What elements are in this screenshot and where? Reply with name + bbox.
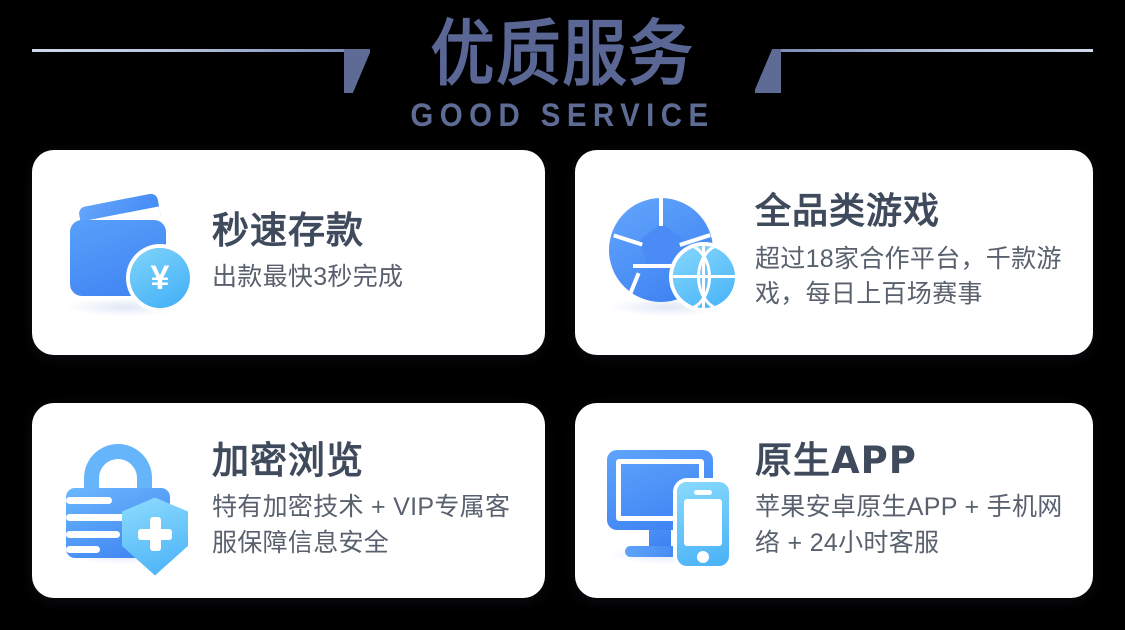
feature-card-deposit[interactable]: ¥ 秒速存款 出款最快3秒完成: [32, 150, 545, 355]
card-title: 加密浏览: [212, 440, 531, 481]
plus-icon: [138, 517, 172, 551]
basketball-icon: [673, 246, 735, 308]
phone-screen: [684, 499, 722, 546]
phone-icon: [677, 482, 729, 566]
card-text: 秒速存款 出款最快3秒完成: [212, 210, 531, 296]
card-text: 原生APP 苹果安卓原生APP + 手机网络 + 24小时客服: [755, 440, 1079, 561]
phone-home-button: [697, 551, 709, 563]
card-text: 加密浏览 特有加密技术 + VIP专属客服保障信息安全: [212, 440, 531, 561]
page-title: 优质服务: [0, 10, 1125, 102]
card-title: 原生APP: [755, 440, 1079, 481]
monitor-stand: [649, 530, 671, 548]
ball-seam: [613, 233, 643, 246]
lock-shield-icon: [58, 436, 198, 566]
lock-slot: [66, 497, 112, 504]
card-title: 全品类游戏: [755, 192, 1079, 232]
monitor-phone-icon: [601, 436, 741, 566]
lock-slot: [66, 546, 100, 553]
soccer-basketball-icon: [601, 188, 741, 318]
feature-card-grid: ¥ 秒速存款 出款最快3秒完成: [32, 150, 1093, 598]
shield-plus-icon: [122, 498, 188, 576]
ball-seam: [659, 198, 663, 226]
card-title: 秒速存款: [212, 210, 531, 251]
card-text: 全品类游戏 超过18家合作平台，千款游戏，每日上百场赛事: [755, 192, 1079, 312]
card-description: 出款最快3秒完成: [212, 260, 531, 296]
phone-speaker: [694, 490, 712, 495]
yen-coin-icon: ¥: [130, 248, 190, 308]
card-description: 特有加密技术 + VIP专属客服保障信息安全: [212, 490, 531, 561]
feature-card-encryption[interactable]: 加密浏览 特有加密技术 + VIP专属客服保障信息安全: [32, 403, 545, 598]
lock-slot: [66, 531, 120, 538]
page-subtitle: GOOD SERVICE: [45, 99, 1080, 131]
feature-card-native-app[interactable]: 原生APP 苹果安卓原生APP + 手机网络 + 24小时客服: [575, 403, 1093, 598]
card-description: 苹果安卓原生APP + 手机网络 + 24小时客服: [755, 490, 1079, 561]
section-header: 优质服务 GOOD SERVICE: [0, 0, 1125, 146]
wallet-yen-icon: ¥: [58, 188, 198, 318]
feature-card-games[interactable]: 全品类游戏 超过18家合作平台，千款游戏，每日上百场赛事: [575, 150, 1093, 355]
basketball-seam: [697, 246, 735, 308]
card-description: 超过18家合作平台，千款游戏，每日上百场赛事: [755, 242, 1079, 313]
